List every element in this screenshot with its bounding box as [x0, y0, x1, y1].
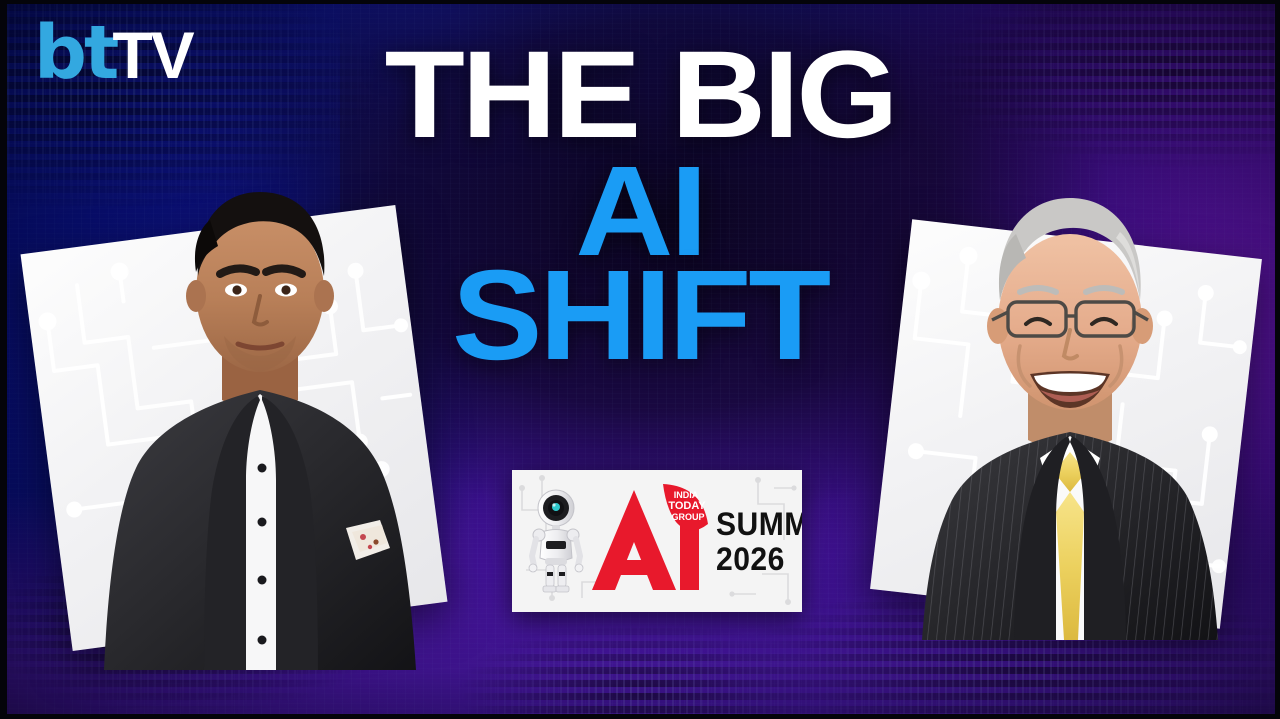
india-today-line-1: INDIA	[674, 490, 699, 500]
india-today-line-3: GROUP	[671, 512, 704, 522]
summit-year: 2026	[716, 543, 802, 575]
summit-label: SUMMIT	[716, 508, 802, 540]
bttv-logo-bt: bt	[34, 16, 116, 90]
broadcast-thumbnail: bt TV THE BIG AI SHIFT	[0, 0, 1280, 719]
summit-title-block: SUMMIT 2026	[716, 508, 802, 575]
india-today-line-2: TODAY	[668, 500, 706, 512]
guest-photo-left	[60, 150, 460, 670]
frame-top	[0, 0, 1280, 4]
ai-summit-logo-card[interactable]: INDIA TODAY GROUP SUMMIT 2026	[512, 470, 802, 612]
frame-right	[1275, 0, 1280, 719]
bttv-logo-tv: TV	[112, 22, 192, 88]
humanoid-robot-icon	[520, 486, 592, 596]
frame-left	[0, 0, 7, 719]
ai-mark-icon: INDIA TODAY GROUP	[590, 482, 712, 600]
bttv-logo[interactable]: bt TV	[34, 16, 193, 90]
frame-bottom	[0, 714, 1280, 719]
guest-photo-right	[880, 140, 1260, 640]
